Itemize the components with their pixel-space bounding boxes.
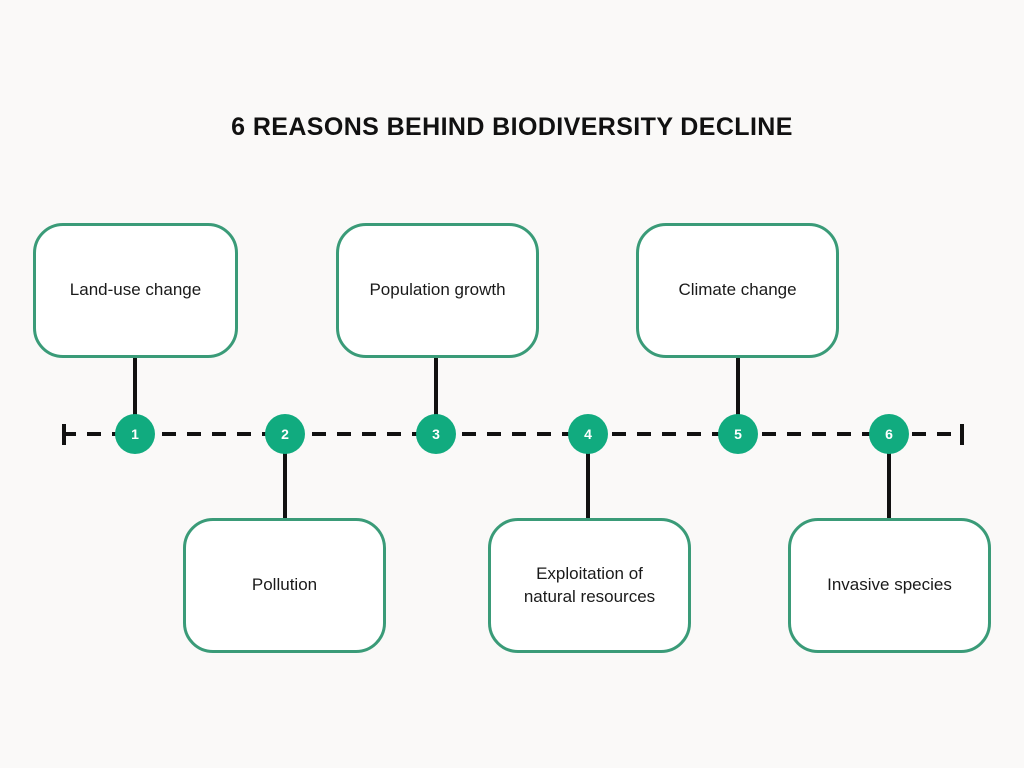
reason-card-4[interactable]: Exploitation of natural resources xyxy=(488,518,691,653)
connector-stem-2 xyxy=(283,452,287,518)
connector-stem-3 xyxy=(434,358,438,416)
reason-card-6[interactable]: Invasive species xyxy=(788,518,991,653)
timeline-left-endcap xyxy=(62,424,66,445)
timeline-right-endcap xyxy=(960,424,964,445)
timeline-node-6[interactable]: 6 xyxy=(869,414,909,454)
connector-stem-5 xyxy=(736,358,740,416)
timeline-node-number: 4 xyxy=(584,426,592,442)
timeline-node-number: 5 xyxy=(734,426,742,442)
biodiversity-decline-infographic: 6 Reasons Behind Biodiversity Decline 12… xyxy=(0,0,1024,768)
reason-card-label: Exploitation of natural resources xyxy=(524,563,655,609)
timeline-node-number: 6 xyxy=(885,426,893,442)
reason-card-5[interactable]: Climate change xyxy=(636,223,839,358)
timeline-node-1[interactable]: 1 xyxy=(115,414,155,454)
timeline-node-3[interactable]: 3 xyxy=(416,414,456,454)
connector-stem-6 xyxy=(887,452,891,518)
reason-card-2[interactable]: Pollution xyxy=(183,518,386,653)
timeline-node-2[interactable]: 2 xyxy=(265,414,305,454)
timeline-node-number: 3 xyxy=(432,426,440,442)
reason-card-label: Climate change xyxy=(678,279,796,302)
reason-card-label: Pollution xyxy=(252,574,317,597)
connector-stem-4 xyxy=(586,452,590,518)
page-title: 6 Reasons Behind Biodiversity Decline xyxy=(0,113,1024,142)
timeline-node-number: 2 xyxy=(281,426,289,442)
timeline-dashed-line xyxy=(62,432,964,436)
reason-card-label: Population growth xyxy=(369,279,505,302)
reason-card-label: Invasive species xyxy=(827,574,952,597)
timeline-node-number: 1 xyxy=(131,426,139,442)
reason-card-1[interactable]: Land-use change xyxy=(33,223,238,358)
connector-stem-1 xyxy=(133,358,137,416)
reason-card-3[interactable]: Population growth xyxy=(336,223,539,358)
timeline-node-4[interactable]: 4 xyxy=(568,414,608,454)
reason-card-label: Land-use change xyxy=(70,279,201,302)
timeline-node-5[interactable]: 5 xyxy=(718,414,758,454)
